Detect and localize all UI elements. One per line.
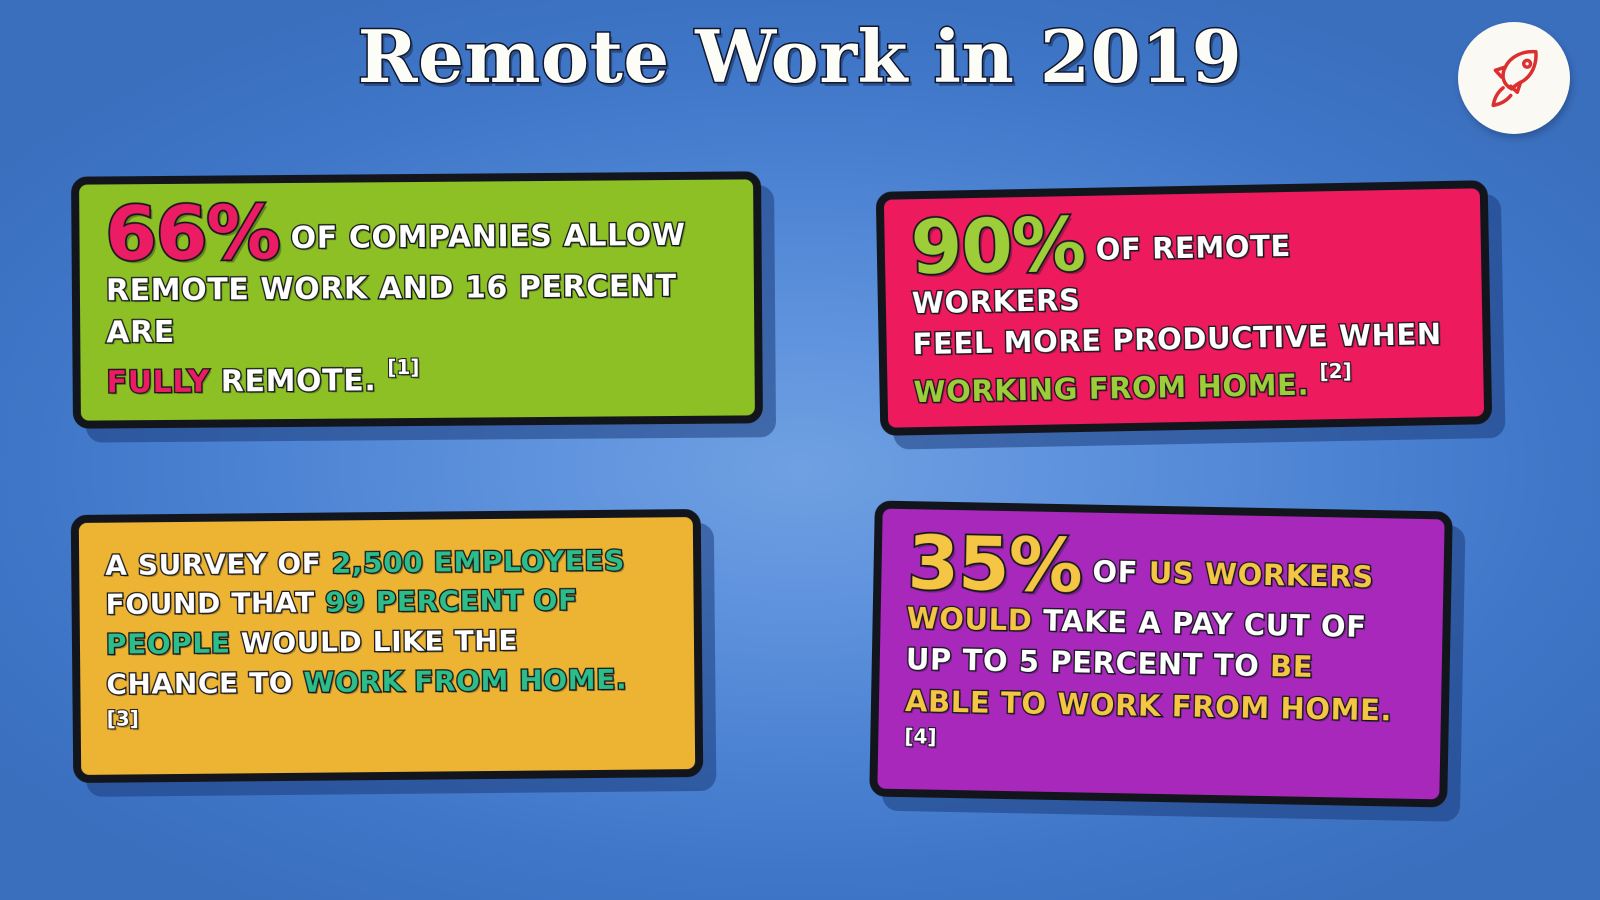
rocket-icon bbox=[1479, 43, 1549, 113]
stat-line: 35% OF US WORKERS bbox=[907, 528, 1418, 608]
stat-line: 90% OF REMOTE WORKERS bbox=[910, 202, 1456, 324]
header: Remote Work in 2019 bbox=[0, 0, 1600, 150]
brand-badge bbox=[1458, 22, 1570, 134]
reference-marker: [3] bbox=[107, 706, 139, 730]
highlight-text: 99 PERCENT OF bbox=[325, 584, 578, 619]
highlight-text: US WORKERS bbox=[1148, 556, 1374, 594]
stat-card-text: 66% OF COMPANIES ALLOWREMOTE WORK AND 16… bbox=[79, 195, 755, 405]
stat-card-text: 35% OF US WORKERSWOULD TAKE A PAY CUT OF… bbox=[878, 528, 1445, 781]
reference-marker: [2] bbox=[1319, 359, 1352, 384]
stat-line: ABLE TO WORK FROM HOME. [4] bbox=[904, 681, 1416, 780]
body-text: WOULD LIKE THE bbox=[230, 624, 518, 660]
reference-marker: [4] bbox=[904, 724, 937, 749]
stat-line: CHANCE TO WORK FROM HOME. [3] bbox=[106, 659, 669, 752]
stat-card-remote-workers-productive: 90% OF REMOTE WORKERSFEEL MORE PRODUCTIV… bbox=[876, 180, 1493, 436]
highlight-text: FULLY bbox=[107, 365, 210, 401]
stat-card-text: 90% OF REMOTE WORKERSFEEL MORE PRODUCTIV… bbox=[884, 202, 1484, 414]
body-text: CHANCE TO bbox=[106, 666, 303, 701]
body-text: OF bbox=[1081, 554, 1149, 589]
highlight-text: 2,500 EMPLOYEES bbox=[332, 543, 625, 579]
stat-line: PEOPLE WOULD LIKE THE bbox=[106, 619, 668, 664]
percent-symbol: % bbox=[206, 191, 280, 278]
stat-card-us-workers-pay-cut: 35% OF US WORKERSWOULD TAKE A PAY CUT OF… bbox=[869, 500, 1453, 807]
body-text: FOUND THAT bbox=[105, 586, 325, 621]
percent-symbol: % bbox=[1008, 522, 1083, 609]
reference-marker: [1] bbox=[387, 355, 419, 379]
percent-symbol: % bbox=[1011, 201, 1086, 288]
highlight-text: WORKING FROM HOME. bbox=[913, 368, 1309, 410]
stat-line: REMOTE WORK AND 16 PERCENT ARE bbox=[106, 265, 729, 355]
body-text: REMOTE WORK AND 16 PERCENT ARE bbox=[106, 269, 677, 351]
stat-card-text: A SURVEY OF 2,500 EMPLOYEESFOUND THAT 99… bbox=[79, 540, 695, 753]
highlight-text: ABLE TO WORK FROM HOME. bbox=[905, 684, 1393, 727]
stat-card-survey-2500-employees: A SURVEY OF 2,500 EMPLOYEESFOUND THAT 99… bbox=[71, 509, 704, 783]
stat-card-companies-allow-remote: 66% OF COMPANIES ALLOWREMOTE WORK AND 16… bbox=[71, 171, 763, 428]
stat-line: FULLY REMOTE. [1] bbox=[106, 350, 728, 404]
stat-number: 90 bbox=[910, 203, 1013, 291]
highlight-text: BE bbox=[1270, 650, 1314, 685]
body-text: OF COMPANIES ALLOW bbox=[280, 218, 686, 256]
stat-line: A SURVEY OF 2,500 EMPLOYEES bbox=[105, 540, 667, 585]
stat-line: FOUND THAT 99 PERCENT OF bbox=[105, 580, 667, 625]
stat-number: 35 bbox=[907, 520, 1010, 608]
body-text: REMOTE. bbox=[210, 363, 388, 399]
page-title: Remote Work in 2019 bbox=[0, 14, 1600, 99]
highlight-text: WORK FROM HOME. bbox=[303, 663, 627, 699]
stat-number: 66 bbox=[105, 191, 207, 278]
highlight-text: PEOPLE bbox=[106, 627, 231, 661]
body-text: FEEL MORE PRODUCTIVE WHEN bbox=[912, 317, 1442, 361]
body-text: TAKE A PAY CUT OF bbox=[1032, 604, 1367, 644]
stat-line: WORKING FROM HOME. [2] bbox=[913, 355, 1458, 414]
stat-line: 66% OF COMPANIES ALLOW bbox=[105, 195, 728, 270]
body-text: UP TO 5 PERCENT TO bbox=[906, 643, 1271, 684]
body-text: A SURVEY OF bbox=[105, 546, 332, 581]
infographic-canvas: Remote Work in 2019 66% OF COMPANIES ALL… bbox=[0, 0, 1600, 900]
highlight-text: WOULD bbox=[906, 601, 1032, 637]
